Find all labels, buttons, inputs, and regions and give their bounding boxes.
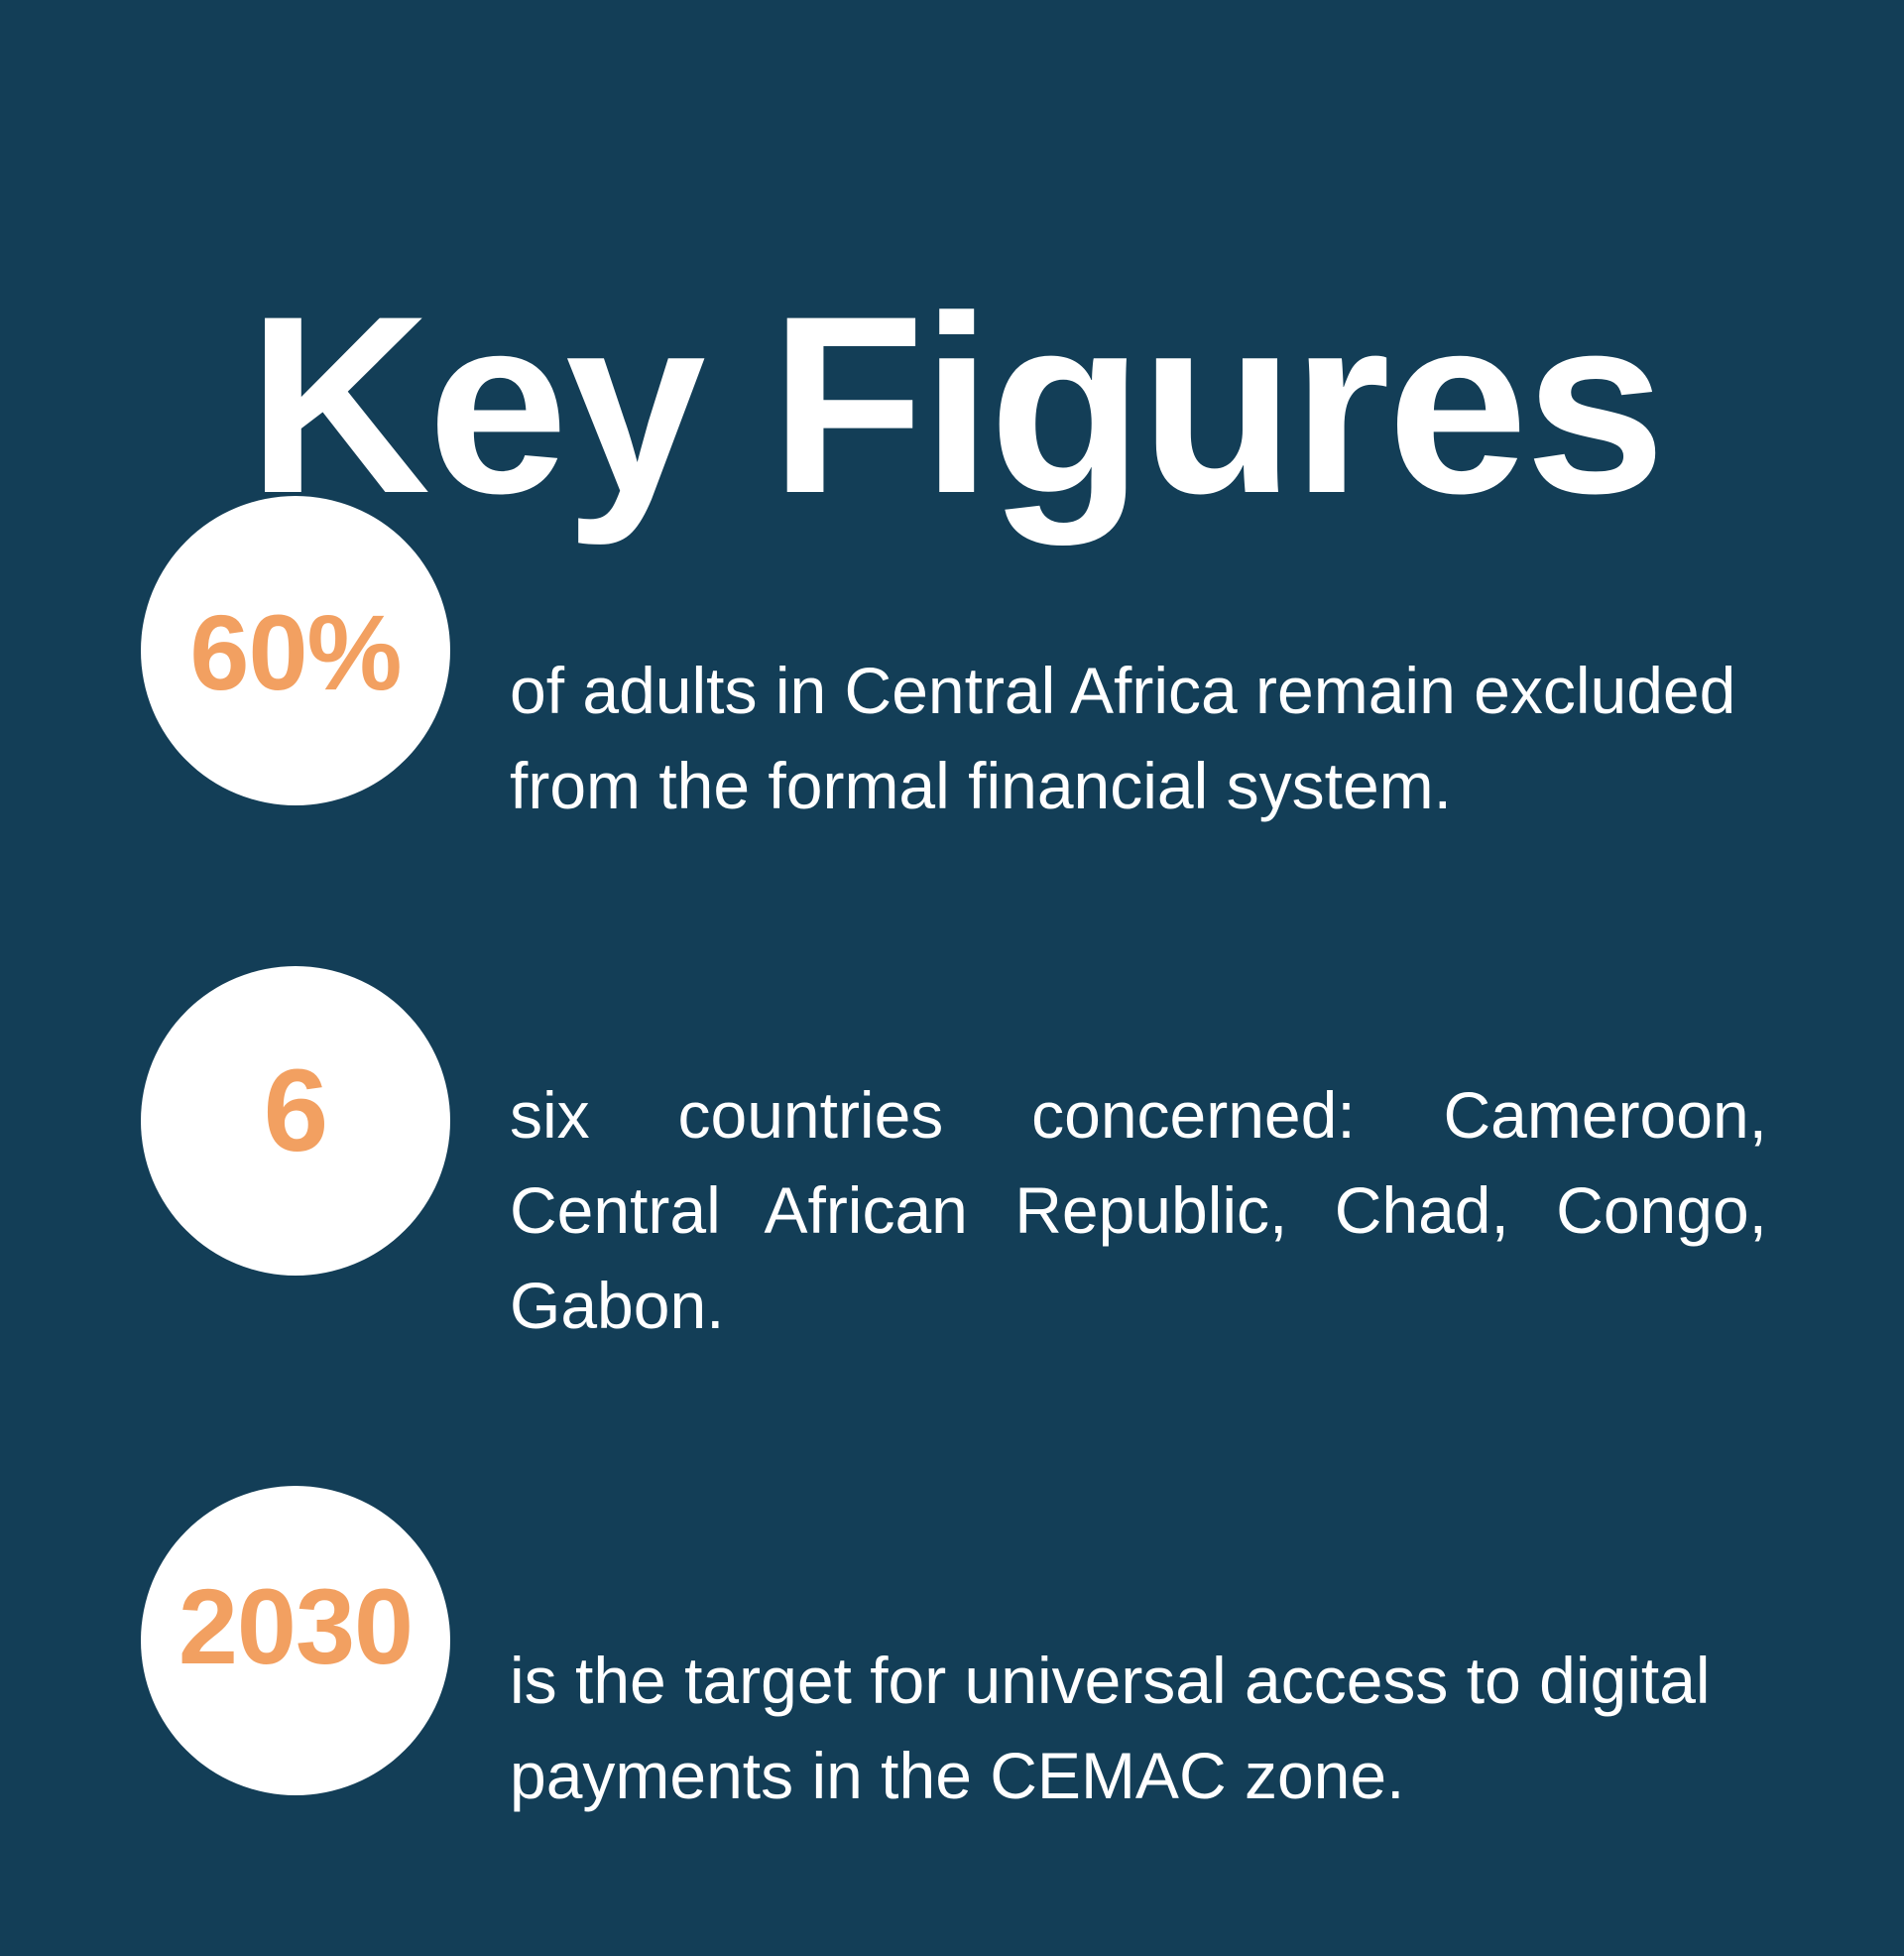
stat-badge-circle: 60% [141,496,450,805]
stat-description: is the target for universal access to di… [510,1551,1767,1823]
stat-badge-circle: 6 [141,966,450,1276]
stat-value: 2030 [178,1573,413,1680]
stat-description: six countries concerned: Cameroon, Centr… [510,1032,1767,1353]
key-figures-poster: Key Figures 60% of adults in Central Afr… [0,0,1904,1904]
list-item: 6 six countries concerned: Cameroon, Cen… [0,966,1904,1418]
stat-value: 60% [189,599,401,706]
stat-list: 60% of adults in Central Africa remain e… [0,496,1904,1956]
stat-badge-circle: 2030 [141,1486,450,1795]
page-title: Key Figures [248,279,1735,532]
stat-value: 6 [264,1052,328,1169]
stat-description: of adults in Central Africa remain exclu… [510,561,1767,833]
list-item: 2030 is the target for universal access … [0,1486,1904,1889]
list-item: 60% of adults in Central Africa remain e… [0,496,1904,899]
